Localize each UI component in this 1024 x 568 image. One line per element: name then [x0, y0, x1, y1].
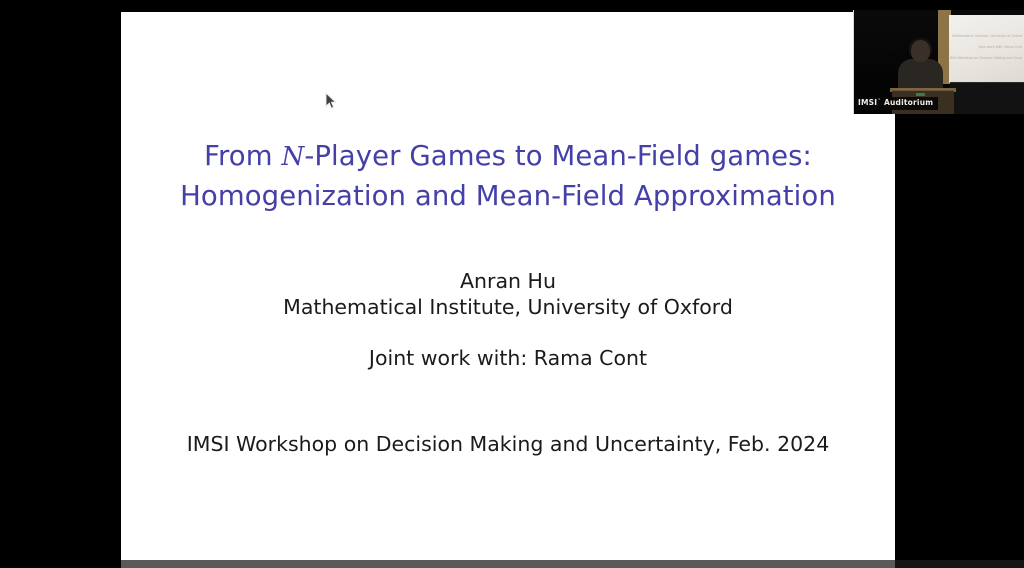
- video-projected-line-3: IMSI Workshop on Decision Making and Unc…: [950, 53, 1022, 64]
- presenter-video-overlay[interactable]: Mathematical Institute, University of Ox…: [853, 10, 1024, 114]
- slide-canvas[interactable]: From N-Player Games to Mean-Field games:…: [121, 12, 895, 560]
- player-control-bar[interactable]: [121, 560, 895, 568]
- video-projected-line-1: Mathematical Institute, University of Ox…: [950, 31, 1022, 42]
- slide-title-math-variable-n: N: [281, 142, 304, 172]
- video-projected-slide-text: Mathematical Institute, University of Ox…: [950, 31, 1022, 64]
- slide-author-block: Anran Hu Mathematical Institute, Univers…: [121, 268, 895, 320]
- slide-title-line-2: Homogenization and Mean-Field Approximat…: [121, 177, 895, 216]
- joint-work-line: Joint work with: Rama Cont: [121, 345, 895, 371]
- video-podium-indicator-light: [916, 93, 925, 96]
- video-projection-screen: Mathematical Institute, University of Ox…: [949, 15, 1024, 83]
- player-control-bar-overflow: [895, 560, 1024, 568]
- slide-title-line-1: From N-Player Games to Mean-Field games:: [121, 137, 895, 177]
- slide-content: From N-Player Games to Mean-Field games:…: [121, 12, 895, 560]
- video-projected-line-2: Joint work with: Rama Cont: [950, 42, 1022, 53]
- mouse-cursor-arrow-icon: [325, 92, 337, 110]
- video-venue-label: IMSI˙ Auditorium: [855, 97, 938, 110]
- video-speaker-head: [911, 40, 930, 62]
- slide-title: From N-Player Games to Mean-Field games:…: [121, 137, 895, 216]
- video-front-table: [950, 82, 1024, 114]
- venue-line: IMSI Workshop on Decision Making and Unc…: [121, 431, 895, 457]
- author-affiliation: Mathematical Institute, University of Ox…: [121, 294, 895, 320]
- author-name: Anran Hu: [121, 268, 895, 294]
- presentation-viewer: From N-Player Games to Mean-Field games:…: [0, 0, 1024, 568]
- slide-title-line-1-suffix: -Player Games to Mean-Field games:: [304, 140, 812, 172]
- slide-title-line-1-prefix: From: [204, 140, 281, 172]
